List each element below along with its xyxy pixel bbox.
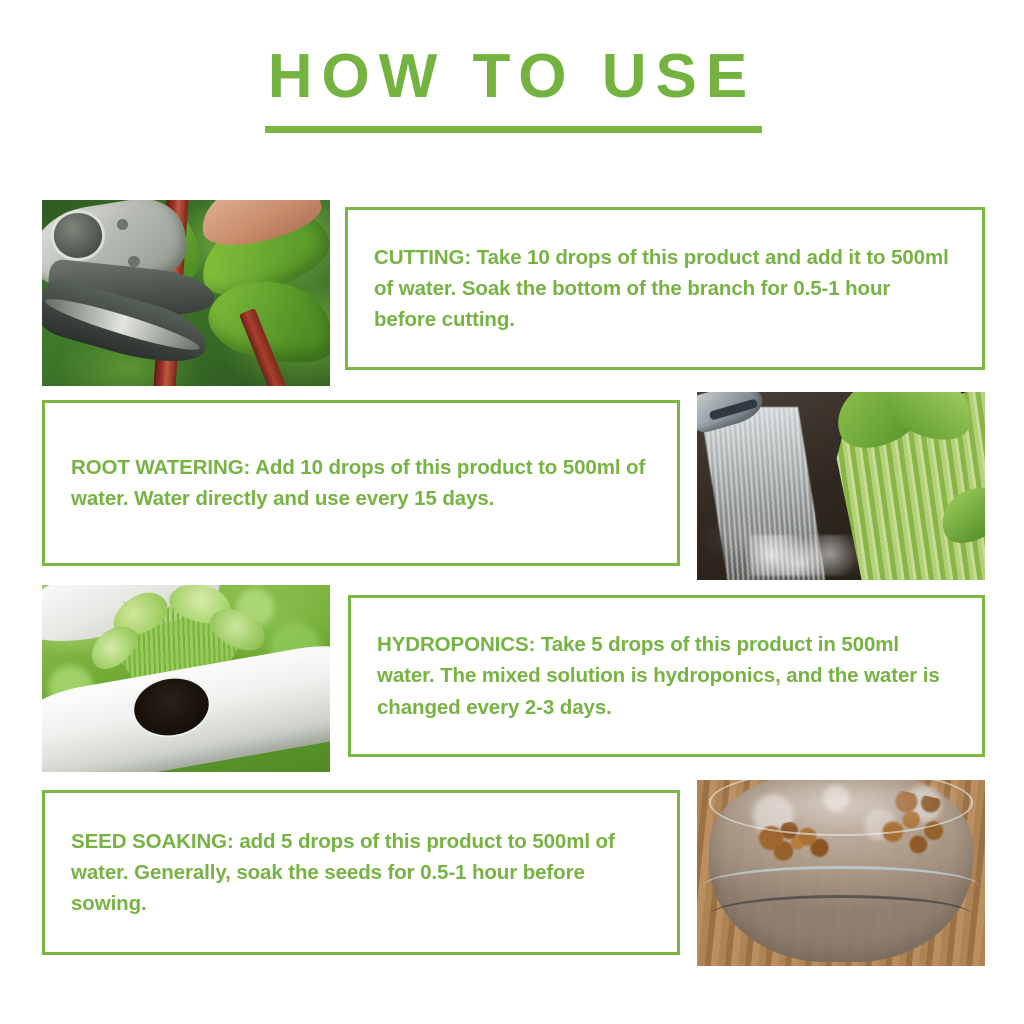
watering-can-on-plant-photo [697, 392, 985, 580]
seeds-soaking-in-bowl-photo [697, 780, 985, 966]
step-cutting-textbox: CUTTING: Take 10 drops of this product a… [345, 207, 985, 370]
step-seed-soaking-textbox: SEED SOAKING: add 5 drops of this produc… [42, 790, 680, 955]
hydroponic-pipe-seedlings-photo [42, 585, 330, 772]
bowl-glass-ring [709, 895, 974, 936]
step-hydroponics-text: HYDROPONICS: Take 5 drops of this produc… [351, 629, 982, 722]
step-root-watering-text: ROOT WATERING: Add 10 drops of this prod… [45, 452, 677, 514]
step-hydroponics-textbox: HYDROPONICS: Take 5 drops of this produc… [348, 595, 985, 757]
page-title: HOW TO USE [268, 46, 756, 108]
page-title-container: HOW TO USE [0, 46, 1024, 108]
water-splash [749, 535, 864, 576]
title-underline-rule [265, 126, 762, 133]
step-root-watering-textbox: ROOT WATERING: Add 10 drops of this prod… [42, 400, 680, 566]
step-seed-soaking-text: SEED SOAKING: add 5 drops of this produc… [45, 826, 677, 919]
how-to-use-infographic: HOW TO USE CUTTING: Take 10 drops of thi… [0, 0, 1024, 1024]
shear-rivet [117, 219, 129, 230]
pruning-shears-cutting-stem-photo [42, 200, 330, 386]
shear-rivet [128, 256, 140, 267]
step-cutting-text: CUTTING: Take 10 drops of this product a… [348, 242, 982, 335]
shear-pivot-bolt [54, 213, 103, 258]
